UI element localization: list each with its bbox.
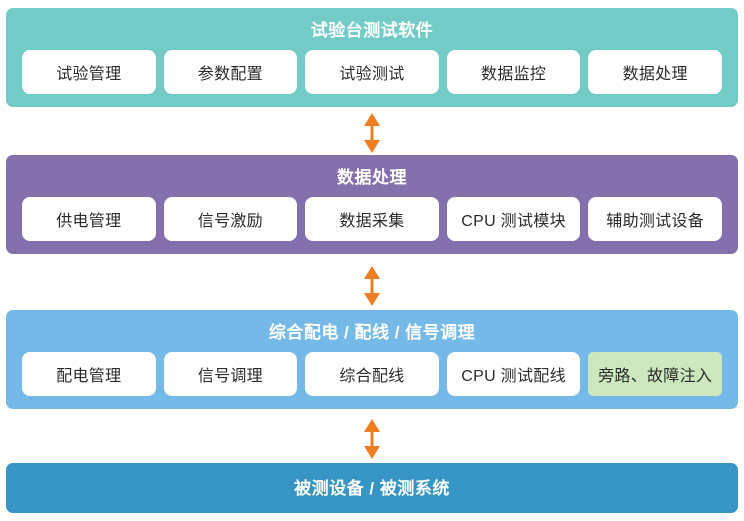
double-arrow-icon xyxy=(361,419,383,459)
chip-data-acquisition[interactable]: 数据采集 xyxy=(305,197,439,241)
chip-test-execution[interactable]: 试验测试 xyxy=(305,50,439,94)
chip-test-management[interactable]: 试验管理 xyxy=(22,50,156,94)
chip-distribution-management[interactable]: 配电管理 xyxy=(22,352,156,396)
chip-bypass-fault-injection[interactable]: 旁路、故障注入 xyxy=(588,352,722,396)
chip-label: 供电管理 xyxy=(56,207,121,231)
chip-data-monitoring[interactable]: 数据监控 xyxy=(447,50,581,94)
layer-distribution-chip-row: 配电管理 信号调理 综合配线 CPU 测试配线 旁路、故障注入 xyxy=(6,352,738,409)
double-arrow-icon xyxy=(361,113,383,153)
chip-label: 试验管理 xyxy=(56,60,121,84)
layer-uut: 被测设备 / 被测系统 xyxy=(6,463,738,513)
layer-uut-title: 被测设备 / 被测系统 xyxy=(294,480,450,497)
chip-label: 数据监控 xyxy=(481,60,546,84)
chip-label: 数据处理 xyxy=(623,60,688,84)
layer-distribution-title: 综合配电 / 配线 / 信号调理 xyxy=(6,310,738,352)
layer-software: 试验台测试软件 试验管理 参数配置 试验测试 数据监控 数据处理 xyxy=(6,8,738,107)
connector-distribution-to-uut xyxy=(0,415,744,463)
architecture-diagram: 试验台测试软件 试验管理 参数配置 试验测试 数据监控 数据处理 xyxy=(0,0,744,521)
chip-label: 辅助测试设备 xyxy=(606,207,704,231)
layer-dataproc-title: 数据处理 xyxy=(6,155,738,197)
chip-label: 信号调理 xyxy=(198,362,263,386)
chip-cpu-test-wiring[interactable]: CPU 测试配线 xyxy=(447,352,581,396)
chip-cpu-test-module[interactable]: CPU 测试模块 xyxy=(447,197,581,241)
chip-power-supply-management[interactable]: 供电管理 xyxy=(22,197,156,241)
chip-label: CPU 测试模块 xyxy=(461,207,566,231)
layer-software-title: 试验台测试软件 xyxy=(6,8,738,50)
chip-label: 数据采集 xyxy=(339,207,404,231)
layer-distribution: 综合配电 / 配线 / 信号调理 配电管理 信号调理 综合配线 CPU 测试配线… xyxy=(6,310,738,409)
chip-parameter-configuration[interactable]: 参数配置 xyxy=(164,50,298,94)
chip-signal-conditioning[interactable]: 信号调理 xyxy=(164,352,298,396)
connector-dataproc-to-distribution xyxy=(0,262,744,310)
chip-label: 试验测试 xyxy=(339,60,404,84)
chip-label: 参数配置 xyxy=(198,60,263,84)
chip-data-processing[interactable]: 数据处理 xyxy=(588,50,722,94)
chip-integrated-wiring[interactable]: 综合配线 xyxy=(305,352,439,396)
double-arrow-icon xyxy=(361,266,383,306)
chip-signal-excitation[interactable]: 信号激励 xyxy=(164,197,298,241)
layer-software-chip-row: 试验管理 参数配置 试验测试 数据监控 数据处理 xyxy=(6,50,738,107)
connector-software-to-dataproc xyxy=(0,110,744,155)
layer-dataproc: 数据处理 供电管理 信号激励 数据采集 CPU 测试模块 辅助测试设备 xyxy=(6,155,738,254)
chip-auxiliary-test-equipment[interactable]: 辅助测试设备 xyxy=(588,197,722,241)
chip-label: 综合配线 xyxy=(339,362,404,386)
chip-label: 配电管理 xyxy=(56,362,121,386)
chip-label: 旁路、故障注入 xyxy=(598,362,712,386)
chip-label: 信号激励 xyxy=(198,207,263,231)
layer-dataproc-chip-row: 供电管理 信号激励 数据采集 CPU 测试模块 辅助测试设备 xyxy=(6,197,738,254)
chip-label: CPU 测试配线 xyxy=(461,362,566,386)
